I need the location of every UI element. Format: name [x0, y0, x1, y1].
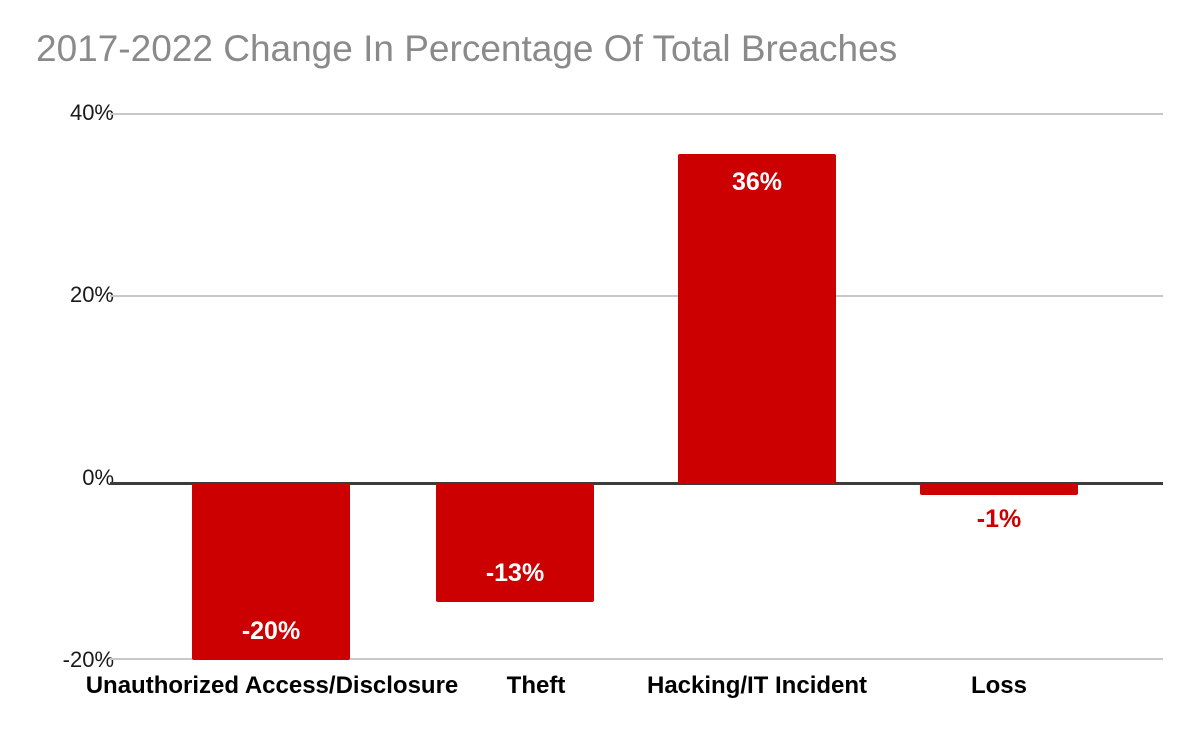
chart-title: 2017-2022 Change In Percentage Of Total …	[36, 28, 897, 70]
y-axis-tick-40: 40%	[70, 100, 114, 126]
bar-value-label-unauthorized-access-disclosure: -20%	[192, 617, 350, 646]
bar-value-label-theft: -13%	[436, 559, 594, 588]
bar-value-label-hacking-it-incident: 36%	[678, 168, 836, 197]
gridline-40	[110, 113, 1163, 115]
bar-value-label-loss: -1%	[920, 505, 1078, 534]
bar-loss[interactable]	[920, 484, 1078, 495]
plot-area: -20% -13% 36% -1%	[110, 113, 1163, 660]
bar-unauthorized-access-disclosure[interactable]: -20%	[192, 484, 350, 660]
y-axis-tick-minus-20: -20%	[63, 647, 114, 673]
bar-chart: 2017-2022 Change In Percentage Of Total …	[0, 0, 1200, 742]
y-axis-tick-20: 20%	[70, 282, 114, 308]
gridline-20	[110, 295, 1163, 297]
x-axis-label-loss: Loss	[799, 672, 1199, 700]
bar-theft[interactable]: -13%	[436, 484, 594, 602]
bar-hacking-it-incident[interactable]: 36%	[678, 154, 836, 484]
